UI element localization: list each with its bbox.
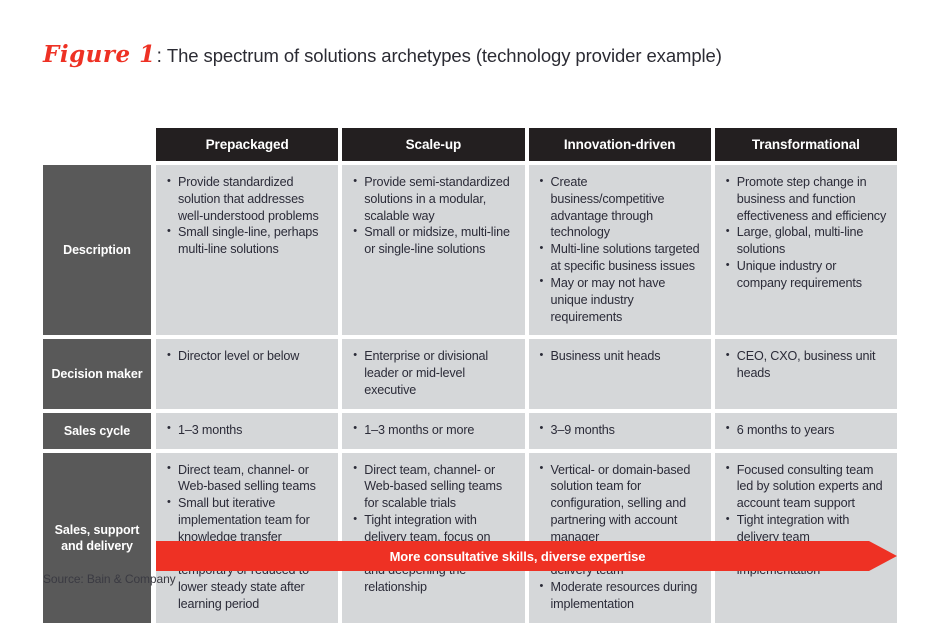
figure-number: Figure 1 <box>43 41 156 68</box>
table-row-sales-support-delivery: Sales, support and delivery Direct team,… <box>43 453 897 623</box>
cell-sales-cycle-transformational: 6 months to years <box>715 413 897 449</box>
cell-decision-maker-transformational: CEO, CXO, business unit heads <box>715 339 897 408</box>
column-header-transformational: Transformational <box>715 128 897 161</box>
table-row-sales-cycle: Sales cycle 1–3 months 1–3 months or mor… <box>43 413 897 449</box>
bullet-list: Business unit heads <box>540 348 701 365</box>
list-item: Large, global, multi-line solutions <box>726 224 887 258</box>
bullet-list: Vertical- or domain-based solution team … <box>540 462 701 613</box>
list-item: Multi-line solutions targeted at specifi… <box>540 241 701 275</box>
list-item: Director level or below <box>167 348 328 365</box>
bullet-list: 3–9 months <box>540 422 701 439</box>
list-item: 1–3 months <box>167 422 328 439</box>
source-note: Source: Bain & Company <box>43 572 176 586</box>
cell-sales-cycle-innovation-driven: 3–9 months <box>529 413 711 449</box>
cell-description-scale-up: Provide semi-standardized solutions in a… <box>342 165 524 335</box>
bullet-list: Promote step change in business and func… <box>726 174 887 292</box>
bullet-list: Create business/competitive advantage th… <box>540 174 701 325</box>
progression-arrow: More consultative skills, diverse expert… <box>156 541 897 571</box>
list-item: 6 months to years <box>726 422 887 439</box>
row-label-sales-support-delivery: Sales, support and delivery <box>43 453 151 623</box>
cell-sales-cycle-scale-up: 1–3 months or more <box>342 413 524 449</box>
list-item: Provide standardized solution that addre… <box>167 174 328 224</box>
bullet-list: CEO, CXO, business unit heads <box>726 348 887 382</box>
row-label-description: Description <box>43 165 151 335</box>
list-item: CEO, CXO, business unit heads <box>726 348 887 382</box>
row-label-decision-maker: Decision maker <box>43 339 151 408</box>
row-label-sales-cycle: Sales cycle <box>43 413 151 449</box>
list-item: Business unit heads <box>540 348 701 365</box>
bullet-list: Provide semi-standardized solutions in a… <box>353 174 514 258</box>
cell-decision-maker-innovation-driven: Business unit heads <box>529 339 711 408</box>
column-header-innovation-driven: Innovation-driven <box>529 128 711 161</box>
figure-colon: : <box>157 46 162 67</box>
cell-description-prepackaged: Provide standardized solution that addre… <box>156 165 338 335</box>
cell-description-transformational: Promote step change in business and func… <box>715 165 897 335</box>
list-item: Create business/competitive advantage th… <box>540 174 701 241</box>
arrow-label: More consultative skills, diverse expert… <box>156 541 897 571</box>
list-item: Vertical- or domain-based solution team … <box>540 462 701 546</box>
bullet-list: Direct team, channel- or Web-based selli… <box>353 462 514 597</box>
header-corner-spacer <box>43 128 151 161</box>
bullet-list: Direct team, channel- or Web-based selli… <box>167 462 328 613</box>
list-item: Focused consulting team led by solution … <box>726 462 887 512</box>
column-header-prepackaged: Prepackaged <box>156 128 338 161</box>
list-item: Small but iterative implementation team … <box>167 495 328 545</box>
list-item: Direct team, channel- or Web-based selli… <box>353 462 514 512</box>
table-header-row: Prepackaged Scale-up Innovation-driven T… <box>43 128 897 161</box>
list-item: Promote step change in business and func… <box>726 174 887 224</box>
column-header-scale-up: Scale-up <box>342 128 524 161</box>
page-title: Figure 1:The spectrum of solutions arche… <box>43 41 722 68</box>
list-item: Provide semi-standardized solutions in a… <box>353 174 514 224</box>
cell-sales-support-scale-up: Direct team, channel- or Web-based selli… <box>342 453 524 623</box>
list-item: Moderate resources during implementation <box>540 579 701 613</box>
cell-description-innovation-driven: Create business/competitive advantage th… <box>529 165 711 335</box>
list-item: Unique industry or company requirements <box>726 258 887 292</box>
figure-title-text: The spectrum of solutions archetypes (te… <box>167 45 722 66</box>
cell-sales-support-transformational: Focused consulting team led by solution … <box>715 453 897 623</box>
bullet-list: 6 months to years <box>726 422 887 439</box>
cell-sales-support-innovation-driven: Vertical- or domain-based solution team … <box>529 453 711 623</box>
cell-decision-maker-scale-up: Enterprise or divisional leader or mid-l… <box>342 339 524 408</box>
cell-sales-support-prepackaged: Direct team, channel- or Web-based selli… <box>156 453 338 623</box>
list-item: 3–9 months <box>540 422 701 439</box>
list-item: Direct team, channel- or Web-based selli… <box>167 462 328 496</box>
bullet-list: 1–3 months or more <box>353 422 514 439</box>
cell-decision-maker-prepackaged: Director level or below <box>156 339 338 408</box>
table-row-decision-maker: Decision maker Director level or below E… <box>43 339 897 408</box>
bullet-list: Director level or below <box>167 348 328 365</box>
list-item: Small or midsize, multi-line or single-l… <box>353 224 514 258</box>
list-item: Small single-line, perhaps multi-line so… <box>167 224 328 258</box>
bullet-list: Provide standardized solution that addre… <box>167 174 328 258</box>
bullet-list: Enterprise or divisional leader or mid-l… <box>353 348 514 398</box>
table-row-description: Description Provide standardized solutio… <box>43 165 897 335</box>
list-item: Enterprise or divisional leader or mid-l… <box>353 348 514 398</box>
cell-sales-cycle-prepackaged: 1–3 months <box>156 413 338 449</box>
list-item: May or may not have unique industry requ… <box>540 275 701 325</box>
list-item: 1–3 months or more <box>353 422 514 439</box>
bullet-list: 1–3 months <box>167 422 328 439</box>
